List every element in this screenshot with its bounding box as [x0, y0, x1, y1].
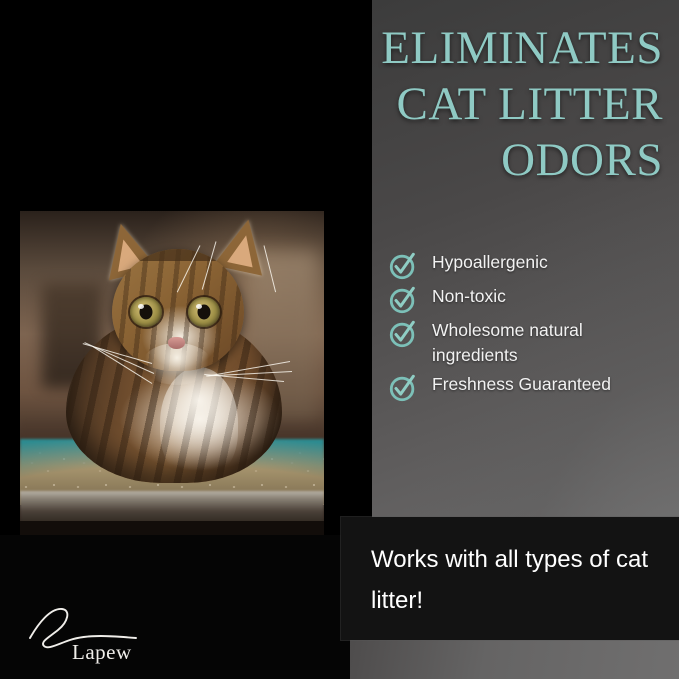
- litter-box-base: [20, 521, 324, 535]
- feature-label: Non-toxic: [432, 284, 506, 309]
- feature-label: Wholesome natural ingredients: [432, 318, 664, 368]
- headline-line-2: CAT LITTER: [273, 76, 663, 132]
- headline: ELIMINATES CAT LITTER ODORS: [273, 20, 663, 188]
- feature-label: Freshness Guaranteed: [432, 372, 611, 397]
- headline-line-1: ELIMINATES: [273, 20, 663, 76]
- callout-box: Works with all types of cat litter!: [341, 517, 679, 640]
- check-circle-icon: [388, 373, 418, 403]
- feature-item: Non-toxic: [388, 284, 673, 314]
- callout-text: Works with all types of cat litter!: [371, 539, 659, 621]
- check-circle-icon: [388, 285, 418, 315]
- product-ad-image: ELIMINATES CAT LITTER ODORS: [0, 0, 679, 679]
- feature-item: Freshness Guaranteed: [388, 372, 673, 402]
- feature-label: Hypoallergenic: [432, 250, 548, 275]
- check-circle-icon: [388, 319, 418, 349]
- feature-list: Hypoallergenic Non-toxic Wholesome natur…: [388, 250, 673, 406]
- feature-item: Wholesome natural ingredients: [388, 318, 673, 368]
- feature-item: Hypoallergenic: [388, 250, 673, 280]
- kitten-eye-left: [130, 297, 162, 327]
- kitten-eye-glint-left: [138, 304, 144, 309]
- check-circle-icon: [388, 251, 418, 281]
- brand-wordmark: Lapew: [72, 640, 132, 665]
- litter-box-rim: [20, 491, 324, 525]
- kitten-eye-right: [188, 297, 220, 327]
- kitten-muzzle: [142, 343, 212, 385]
- headline-line-3: ODORS: [273, 132, 663, 188]
- kitten-eye-glint-right: [196, 304, 202, 309]
- brand-logo: Lapew: [28, 604, 168, 664]
- product-photo: [20, 211, 324, 535]
- kitten-nose: [168, 337, 185, 349]
